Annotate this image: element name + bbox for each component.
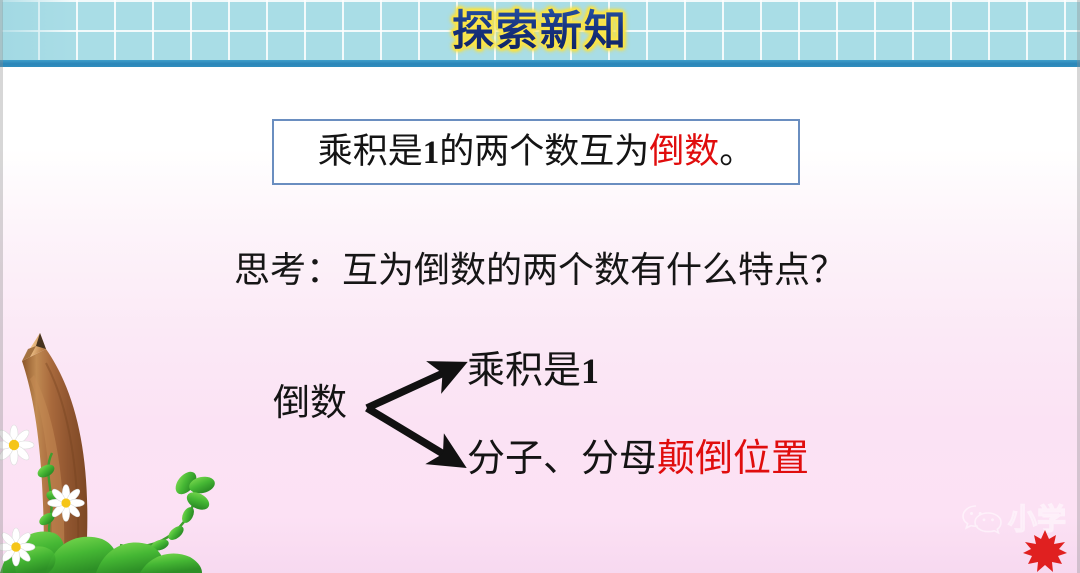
leaf-icon	[35, 462, 216, 556]
question-text: 思考：互为倒数的两个数有什么特点？	[0, 248, 1080, 292]
definition-box: 乘积是1的两个数互为倒数。	[272, 119, 800, 185]
pencil-icon	[22, 333, 87, 559]
arrow-down-right-icon	[367, 408, 450, 458]
concept-map: 倒数 乘积是1 分子、分母颠倒位置	[255, 340, 875, 490]
concept-branch-top-prefix: 乘积是	[467, 350, 581, 392]
definition-prefix: 乘积是	[318, 132, 423, 171]
watermark: 小学	[961, 503, 1066, 535]
vine-icon	[48, 453, 194, 563]
definition-middle: 的两个数互为	[439, 132, 649, 171]
concept-branch-bottom-prefix: 分子、分母	[467, 438, 657, 480]
definition-highlight: 倒数	[649, 132, 719, 171]
definition-text: 乘积是1的两个数互为倒数。	[318, 132, 755, 173]
slide-canvas: 探索新知 乘积是1的两个数互为倒数。 思考：互为倒数的两个数有什么特点？ 倒数 …	[0, 0, 1080, 573]
definition-suffix: 。	[719, 132, 754, 171]
watermark-label: 小学	[1008, 504, 1066, 534]
leaf-icon	[0, 532, 202, 573]
daisy-flower-icon	[0, 425, 84, 566]
slide-header-band: 探索新知	[0, 0, 1080, 67]
concept-branch-bottom-highlight: 颠倒位置	[657, 438, 809, 480]
page-title: 探索新知	[0, 3, 1080, 59]
slide-edge-left	[0, 0, 3, 573]
definition-number: 1	[423, 135, 440, 171]
wechat-icon	[961, 503, 1003, 535]
maple-leaf-icon	[1022, 529, 1068, 573]
concept-branch-top-number: 1	[581, 351, 599, 391]
header-divider-rule	[0, 60, 1080, 67]
concept-branch-top: 乘积是1	[467, 348, 599, 394]
arrow-up-right-icon	[367, 370, 450, 408]
concept-branch-bottom: 分子、分母颠倒位置	[467, 436, 809, 482]
